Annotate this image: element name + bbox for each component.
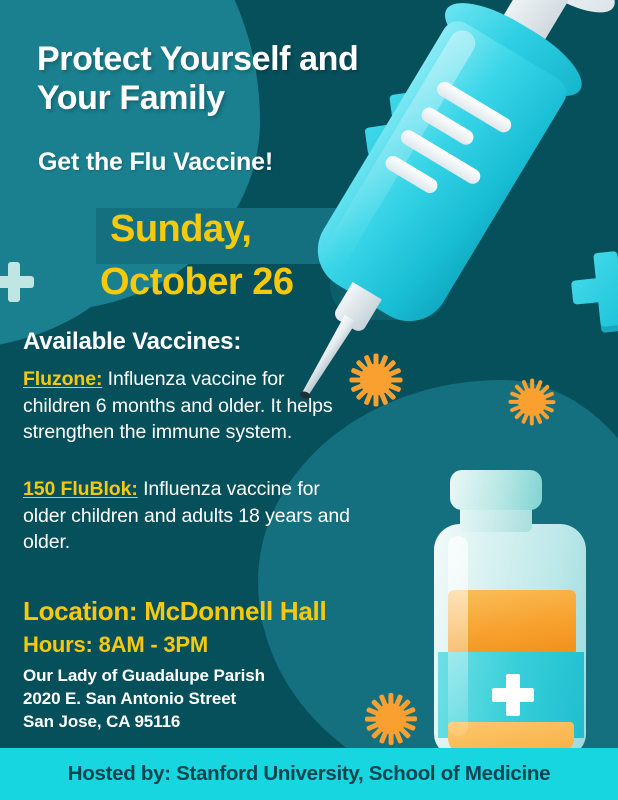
medical-cross-icon (0, 262, 34, 302)
subtitle: Get the Flu Vaccine! (38, 148, 273, 177)
footer-bar: Hosted by: Stanford University, School o… (0, 748, 618, 800)
vaccine-item: Fluzone: Influenza vaccine for children … (23, 366, 353, 446)
page-title: Protect Yourself and Your Family (37, 40, 397, 118)
event-date-line2: October 26 (100, 261, 294, 304)
address-line-1: Our Lady of Guadalupe Parish (23, 666, 265, 686)
event-date-line1: Sunday, (110, 208, 252, 251)
vaccine-name: 150 FluBlok: (23, 478, 138, 500)
address-line-3: San Jose, CA 95116 (23, 712, 180, 732)
vial-cross-icon (492, 674, 534, 716)
vaccine-item: 150 FluBlok: Influenza vaccine for older… (23, 476, 353, 556)
available-vaccines-heading: Available Vaccines: (23, 328, 241, 356)
virus-particle-icon (364, 692, 418, 746)
footer-host-text: Hosted by: Stanford University, School o… (68, 762, 550, 786)
virus-particle-icon (508, 378, 556, 426)
location-venue: Location: McDonnell Hall (23, 596, 326, 627)
location-hours: Hours: 8AM - 3PM (23, 632, 208, 658)
flu-vaccine-poster: Protect Yourself and Your Family Get the… (0, 0, 618, 800)
vaccine-vial-illustration (430, 470, 594, 760)
address-line-2: 2020 E. San Antonio Street (23, 689, 236, 709)
vaccine-name: Fluzone: (23, 368, 102, 390)
medical-cross-3d-icon (568, 248, 618, 329)
